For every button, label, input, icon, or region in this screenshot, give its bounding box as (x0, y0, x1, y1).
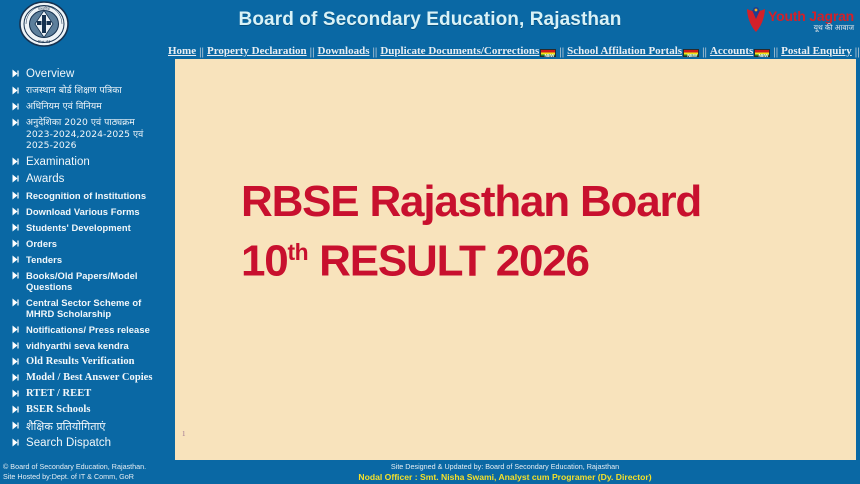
sidebar-item-4[interactable]: Examination (0, 156, 168, 169)
youth-jagran-tagline: यूथ की आवाज (768, 24, 854, 32)
new-badge-icon (683, 49, 699, 57)
arrow-bullet-icon (12, 341, 21, 350)
arrow-bullet-icon (12, 325, 21, 334)
arrow-bullet-icon (12, 157, 21, 166)
sidebar-item-17[interactable]: RTET / REET (0, 388, 168, 400)
arrow-bullet-icon (12, 298, 21, 307)
arrow-bullet-icon (12, 69, 21, 78)
arrow-bullet-icon (12, 438, 21, 447)
sidebar-item-11[interactable]: Books/Old Papers/Model Questions (0, 270, 168, 293)
headline-ordinal-suffix: th (288, 239, 309, 265)
footer-designed-by: Site Designed & Updated by: Board of Sec… (0, 462, 860, 472)
nav-link-property-declaration[interactable]: Property Declaration (207, 45, 307, 58)
sidebar-item-2[interactable]: अधिनियम एवं विनियम (0, 101, 168, 113)
footer-credits: Site Designed & Updated by: Board of Sec… (0, 462, 860, 482)
sidebar-item-13[interactable]: Notifications/ Press release (0, 324, 168, 336)
nav-separator: || (196, 46, 207, 58)
nav-link-label: Home (168, 45, 196, 58)
sidebar-item-label: Search Dispatch (26, 437, 111, 450)
sidebar-item-5[interactable]: Awards (0, 173, 168, 186)
sidebar-item-10[interactable]: Tenders (0, 254, 168, 266)
sidebar-item-label: Old Results Verification (26, 356, 135, 368)
sidebar-item-label: Tenders (26, 254, 62, 266)
sidebar-item-16[interactable]: Model / Best Answer Copies (0, 372, 168, 384)
sidebar-item-label: Notifications/ Press release (26, 324, 150, 336)
sidebar-item-label: Books/Old Papers/Model Questions (26, 270, 164, 293)
sidebar-item-label: Awards (26, 173, 64, 186)
arrow-bullet-icon (12, 373, 21, 382)
sidebar-item-label: Central Sector Scheme of MHRD Scholarshi… (26, 297, 164, 320)
nav-link-downloads[interactable]: Downloads (318, 45, 370, 58)
youth-jagran-mark-icon (745, 6, 767, 34)
new-badge-icon (754, 49, 770, 57)
arrow-bullet-icon (12, 389, 21, 398)
arrow-bullet-icon (12, 191, 21, 200)
nav-link-label: School Affilation Portals (567, 45, 682, 58)
headline-result-year: RESULT 2026 (308, 237, 589, 286)
sidebar-item-label: शैक्षिक प्रतियोगिताएं (26, 420, 106, 433)
arrow-bullet-icon (12, 102, 21, 111)
sidebar-item-label: अधिनियम एवं विनियम (26, 101, 102, 113)
sidebar-item-label: Overview (26, 68, 74, 81)
content-panel: RBSE Rajasthan Board 10th RESULT 2026 1 (175, 59, 856, 460)
sidebar-item-label: Model / Best Answer Copies (26, 372, 153, 384)
nav-link-duplicate-documents-corrections[interactable]: Duplicate Documents/Corrections (380, 45, 556, 58)
sidebar-item-label: राजस्थान बोर्ड शिक्षण पत्रिका (26, 85, 122, 97)
arrow-bullet-icon (12, 239, 21, 248)
headline-line-1: RBSE Rajasthan Board (241, 176, 701, 227)
headline-line-2: 10th RESULT 2026 (241, 227, 701, 287)
svg-text:शिक्षा बोर्ड: शिक्षा बोर्ड (38, 39, 51, 44)
arrow-bullet-icon (12, 405, 21, 414)
arrow-bullet-icon (12, 118, 21, 127)
sidebar-item-label: RTET / REET (26, 388, 91, 400)
sidebar-item-6[interactable]: Recognition of Institutions (0, 190, 168, 202)
youth-jagran-brand: Youth Jagran (768, 9, 854, 23)
nav-separator: || (556, 46, 567, 58)
nav-link-home[interactable]: Home (168, 45, 196, 58)
nav-link-label: Property Declaration (207, 45, 307, 58)
sidebar-item-0[interactable]: Overview (0, 68, 168, 81)
sidebar-menu: Overviewराजस्थान बोर्ड शिक्षण पत्रिकाअधि… (0, 62, 168, 460)
sidebar-item-20[interactable]: Search Dispatch (0, 437, 168, 450)
nav-link-label: Accounts (710, 45, 753, 58)
sidebar-item-9[interactable]: Orders (0, 238, 168, 250)
nav-link-label: Postal Enquiry (781, 45, 852, 58)
sidebar-item-label: Download Various Forms (26, 206, 140, 218)
sidebar-item-14[interactable]: vidhyarthi seva kendra (0, 340, 168, 352)
arrow-bullet-icon (12, 207, 21, 216)
youth-jagran-watermark: Youth Jagran यूथ की आवाज (745, 3, 857, 37)
sidebar-item-label: vidhyarthi seva kendra (26, 340, 129, 352)
sidebar-item-3[interactable]: अनुदेशिका 2020 एवं पाठ्यक्रम 2023-2024,2… (0, 117, 168, 152)
arrow-bullet-icon (12, 255, 21, 264)
sidebar-item-19[interactable]: शैक्षिक प्रतियोगिताएं (0, 420, 168, 433)
sidebar-item-7[interactable]: Download Various Forms (0, 206, 168, 218)
sidebar-item-label: BSER Schools (26, 404, 91, 416)
sidebar-item-18[interactable]: BSER Schools (0, 404, 168, 416)
main-navigation[interactable]: Home||Property Declaration||Downloads||D… (168, 44, 860, 59)
new-badge-icon (540, 49, 556, 57)
nav-separator: || (369, 46, 380, 58)
nav-separator: || (770, 46, 781, 58)
arrow-bullet-icon (12, 86, 21, 95)
nav-separator: || (307, 46, 318, 58)
footer-nodal-officer: Nodal Officer : Smt. Nisha Swami, Analys… (0, 472, 860, 482)
page-title: Board of Secondary Education, Rajasthan (0, 9, 860, 31)
page-root: माध्यमिक शिक्षा बोर्ड Board of Secondary… (0, 0, 860, 484)
site-footer: © Board of Secondary Education, Rajastha… (0, 460, 860, 484)
sidebar-item-8[interactable]: Students' Development (0, 222, 168, 234)
sidebar-item-label: Students' Development (26, 222, 131, 234)
sidebar-item-label: अनुदेशिका 2020 एवं पाठ्यक्रम 2023-2024,2… (26, 117, 164, 152)
sidebar-item-label: Orders (26, 238, 57, 250)
sidebar-item-1[interactable]: राजस्थान बोर्ड शिक्षण पत्रिका (0, 85, 168, 97)
page-number-marker: 1 (182, 430, 186, 438)
arrow-bullet-icon (12, 271, 21, 280)
nav-link-postal-enquiry[interactable]: Postal Enquiry (781, 45, 852, 58)
site-header: माध्यमिक शिक्षा बोर्ड Board of Secondary… (0, 0, 860, 44)
arrow-bullet-icon (12, 357, 21, 366)
sidebar-item-label: Recognition of Institutions (26, 190, 146, 202)
nav-link-label: Duplicate Documents/Corrections (380, 45, 539, 58)
sidebar-item-15[interactable]: Old Results Verification (0, 356, 168, 368)
arrow-bullet-icon (12, 223, 21, 232)
headline-class-number: 10 (241, 237, 288, 286)
result-headline: RBSE Rajasthan Board 10th RESULT 2026 (241, 176, 701, 287)
sidebar-item-label: Examination (26, 156, 90, 169)
nav-link-label: Downloads (318, 45, 370, 58)
nav-link-school-affilation-portals[interactable]: School Affilation Portals (567, 45, 699, 58)
nav-separator: || (852, 46, 860, 58)
arrow-bullet-icon (12, 421, 21, 430)
arrow-bullet-icon (12, 174, 21, 183)
nav-separator: || (699, 46, 710, 58)
sidebar-item-12[interactable]: Central Sector Scheme of MHRD Scholarshi… (0, 297, 168, 320)
nav-link-accounts[interactable]: Accounts (710, 45, 770, 58)
